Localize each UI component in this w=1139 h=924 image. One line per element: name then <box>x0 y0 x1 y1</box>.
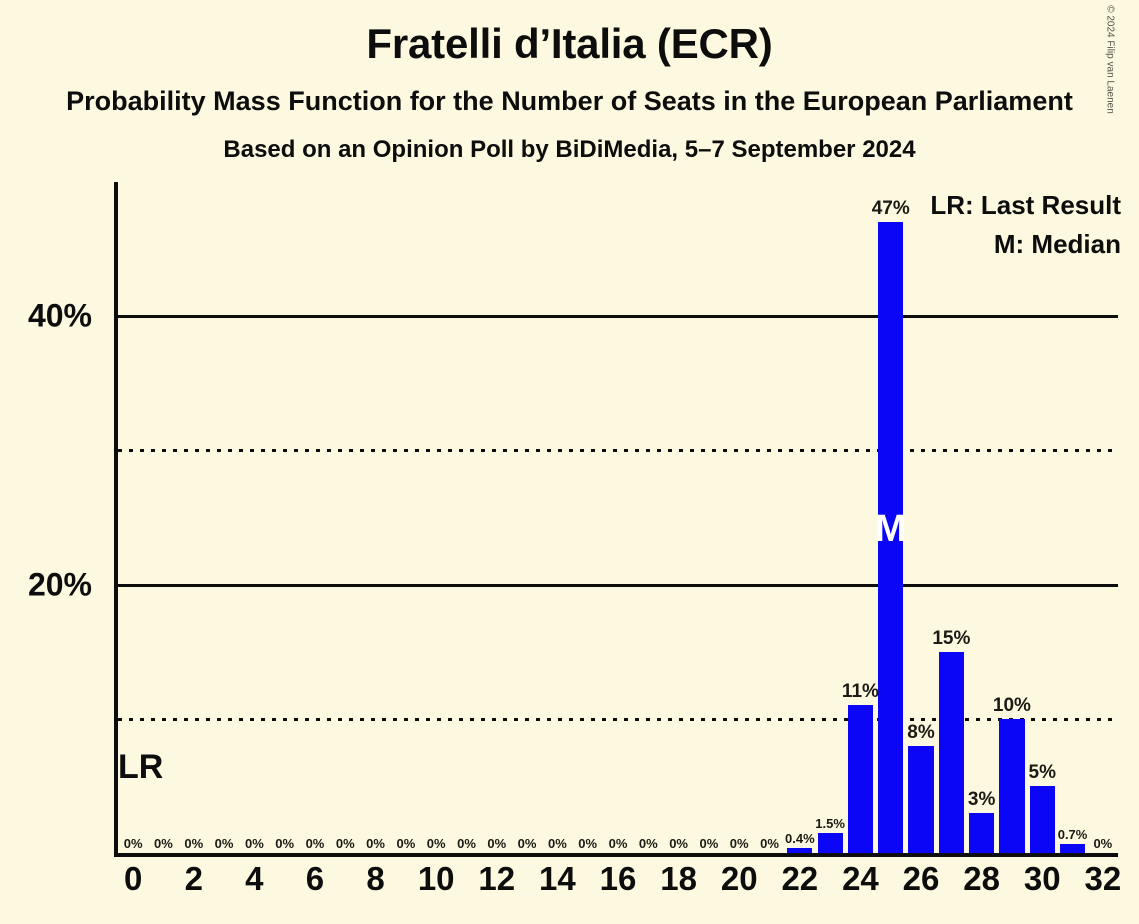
plot-area: 40%20% 0%0%0%0%0%0%0%0%0%0%0%0%0%0%0%0%0… <box>118 182 1118 853</box>
bar-value-label: 0% <box>366 836 385 851</box>
bar[interactable] <box>818 833 843 853</box>
bar-value-label: 0% <box>154 836 173 851</box>
y-axis-tick-label: 40% <box>0 298 92 335</box>
bar-value-label: 0% <box>306 836 325 851</box>
bar-value-label: 0% <box>639 836 658 851</box>
bar-value-label: 0% <box>760 836 779 851</box>
x-axis-tick-label: 26 <box>903 860 940 898</box>
gridline-10 <box>118 718 1118 721</box>
bar-value-label: 0% <box>427 836 446 851</box>
x-axis-tick-label: 0 <box>124 860 142 898</box>
gridline-40 <box>118 315 1118 318</box>
bar-value-label: 1.5% <box>815 816 845 831</box>
bar-value-label: 0% <box>1093 836 1112 851</box>
bar-value-label: 0% <box>336 836 355 851</box>
bar-value-label: 0% <box>184 836 203 851</box>
x-axis-tick-label: 16 <box>600 860 637 898</box>
bar[interactable] <box>999 719 1024 853</box>
gridline-30 <box>118 449 1118 452</box>
bar-value-label: 0% <box>548 836 567 851</box>
bar-value-label: 5% <box>1029 762 1056 784</box>
bar[interactable] <box>787 848 812 853</box>
y-axis-tick-label: 20% <box>0 566 92 603</box>
chart-subtitle: Probability Mass Function for the Number… <box>0 87 1139 115</box>
x-axis-tick-label: 22 <box>781 860 818 898</box>
bar[interactable] <box>969 813 994 853</box>
bar-value-label: 0.4% <box>785 831 815 846</box>
x-axis-tick-label: 10 <box>418 860 455 898</box>
bar[interactable] <box>1030 786 1055 853</box>
bar-value-label: 0% <box>700 836 719 851</box>
x-axis-tick-label: 6 <box>306 860 324 898</box>
x-axis-tick-label: 18 <box>660 860 697 898</box>
last-result-marker: LR <box>118 748 163 787</box>
bar-value-label: 11% <box>842 681 879 703</box>
bar-value-label: 15% <box>932 628 970 650</box>
bar-value-label: 3% <box>968 789 995 811</box>
bar[interactable] <box>908 746 933 853</box>
copyright-notice: © 2024 Filip van Laenen <box>1105 0 1116 135</box>
x-axis-tick-label: 4 <box>245 860 263 898</box>
bar-value-label: 0% <box>578 836 597 851</box>
x-axis-tick-label: 14 <box>539 860 576 898</box>
bar-value-label: 0% <box>669 836 688 851</box>
bar-value-label: 0% <box>487 836 506 851</box>
bar[interactable] <box>1060 844 1085 853</box>
x-axis-tick-label: 32 <box>1084 860 1121 898</box>
page-title: Fratelli d’Italia (ECR) <box>0 22 1139 66</box>
bar-value-label: 0% <box>609 836 628 851</box>
x-axis-tick-label: 30 <box>1024 860 1061 898</box>
bar-value-label: 0.7% <box>1058 827 1088 842</box>
bar-value-label: 0% <box>275 836 294 851</box>
x-axis-tick-label: 12 <box>478 860 515 898</box>
bar-value-label: 0% <box>730 836 749 851</box>
x-axis-tick-label: 8 <box>366 860 384 898</box>
bar-value-label: 0% <box>215 836 234 851</box>
bar-value-label: 0% <box>124 836 143 851</box>
median-marker: M <box>875 508 907 551</box>
x-axis-tick-label: 24 <box>842 860 879 898</box>
bar-value-label: 0% <box>518 836 537 851</box>
bar-value-label: 0% <box>457 836 476 851</box>
bar-value-label: 47% <box>872 198 910 220</box>
bar-value-label: 8% <box>907 722 934 744</box>
bar[interactable] <box>939 652 964 853</box>
chart-canvas: Fratelli d’Italia (ECR) Probability Mass… <box>0 0 1139 924</box>
x-axis-line <box>114 853 1118 857</box>
chart-source-subtitle: Based on an Opinion Poll by BiDiMedia, 5… <box>0 137 1139 162</box>
bar-value-label: 0% <box>396 836 415 851</box>
bar-value-label: 0% <box>245 836 264 851</box>
x-axis-tick-label: 2 <box>185 860 203 898</box>
x-axis-tick-label: 20 <box>721 860 758 898</box>
bar-value-label: 10% <box>993 695 1031 717</box>
x-axis-tick-label: 28 <box>963 860 1000 898</box>
bar[interactable] <box>848 705 873 853</box>
gridline-20 <box>118 584 1118 587</box>
